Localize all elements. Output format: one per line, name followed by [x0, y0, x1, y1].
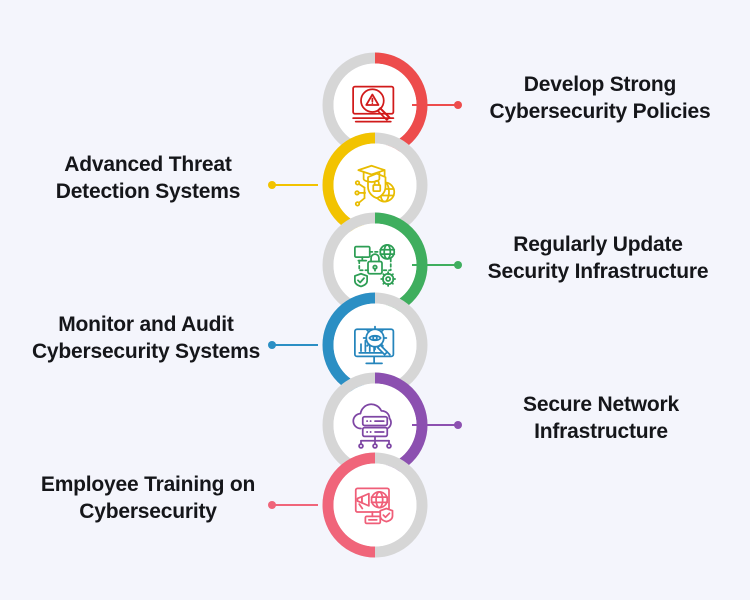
- step-label-line: Advanced Threat: [18, 152, 278, 179]
- step-label-4: Monitor and Audit Cybersecurity Systems: [10, 312, 282, 366]
- step-connector-5: [412, 424, 460, 426]
- step-label-5: Secure Network Infrastructure: [470, 392, 732, 446]
- step-label-line: Employee Training on: [14, 472, 282, 499]
- connector-line: [412, 264, 460, 266]
- step-label-line: Cybersecurity Policies: [470, 99, 730, 126]
- step-label-line: Cybersecurity: [14, 499, 282, 526]
- step-label-line: Security Infrastructure: [462, 259, 734, 286]
- infographic-canvas: Develop Strong Cybersecurity Policies: [0, 0, 750, 600]
- monitor-warning-magnifier-icon: [344, 74, 406, 136]
- step-label-2: Advanced Threat Detection Systems: [18, 152, 278, 206]
- monitor-chart-eye-magnifier-icon: [344, 314, 406, 376]
- shield-lock-network-globe-icon: [344, 154, 406, 216]
- step-label-3: Regularly Update Security Infrastructure: [462, 232, 734, 286]
- step-ring-6[interactable]: [320, 450, 430, 560]
- computer-globe-lock-gear-icon: [344, 234, 406, 296]
- connector-dot: [454, 101, 462, 109]
- connector-dot: [454, 421, 462, 429]
- monitor-megaphone-globe-shield-icon: [344, 474, 406, 536]
- step-label-line: Regularly Update: [462, 232, 734, 259]
- connector-line: [412, 424, 460, 426]
- connector-dot: [454, 261, 462, 269]
- step-label-line: Monitor and Audit: [10, 312, 282, 339]
- step-label-1: Develop Strong Cybersecurity Policies: [470, 72, 730, 126]
- step-label-line: Infrastructure: [470, 419, 732, 446]
- step-label-6: Employee Training on Cybersecurity: [14, 472, 282, 526]
- step-label-line: Secure Network: [470, 392, 732, 419]
- step-connector-3: [412, 264, 460, 266]
- connector-line: [412, 104, 460, 106]
- step-label-line: Cybersecurity Systems: [10, 339, 282, 366]
- cloud-server-network-icon: [344, 394, 406, 456]
- step-label-line: Detection Systems: [18, 179, 278, 206]
- step-label-line: Develop Strong: [470, 72, 730, 99]
- step-connector-1: [412, 104, 460, 106]
